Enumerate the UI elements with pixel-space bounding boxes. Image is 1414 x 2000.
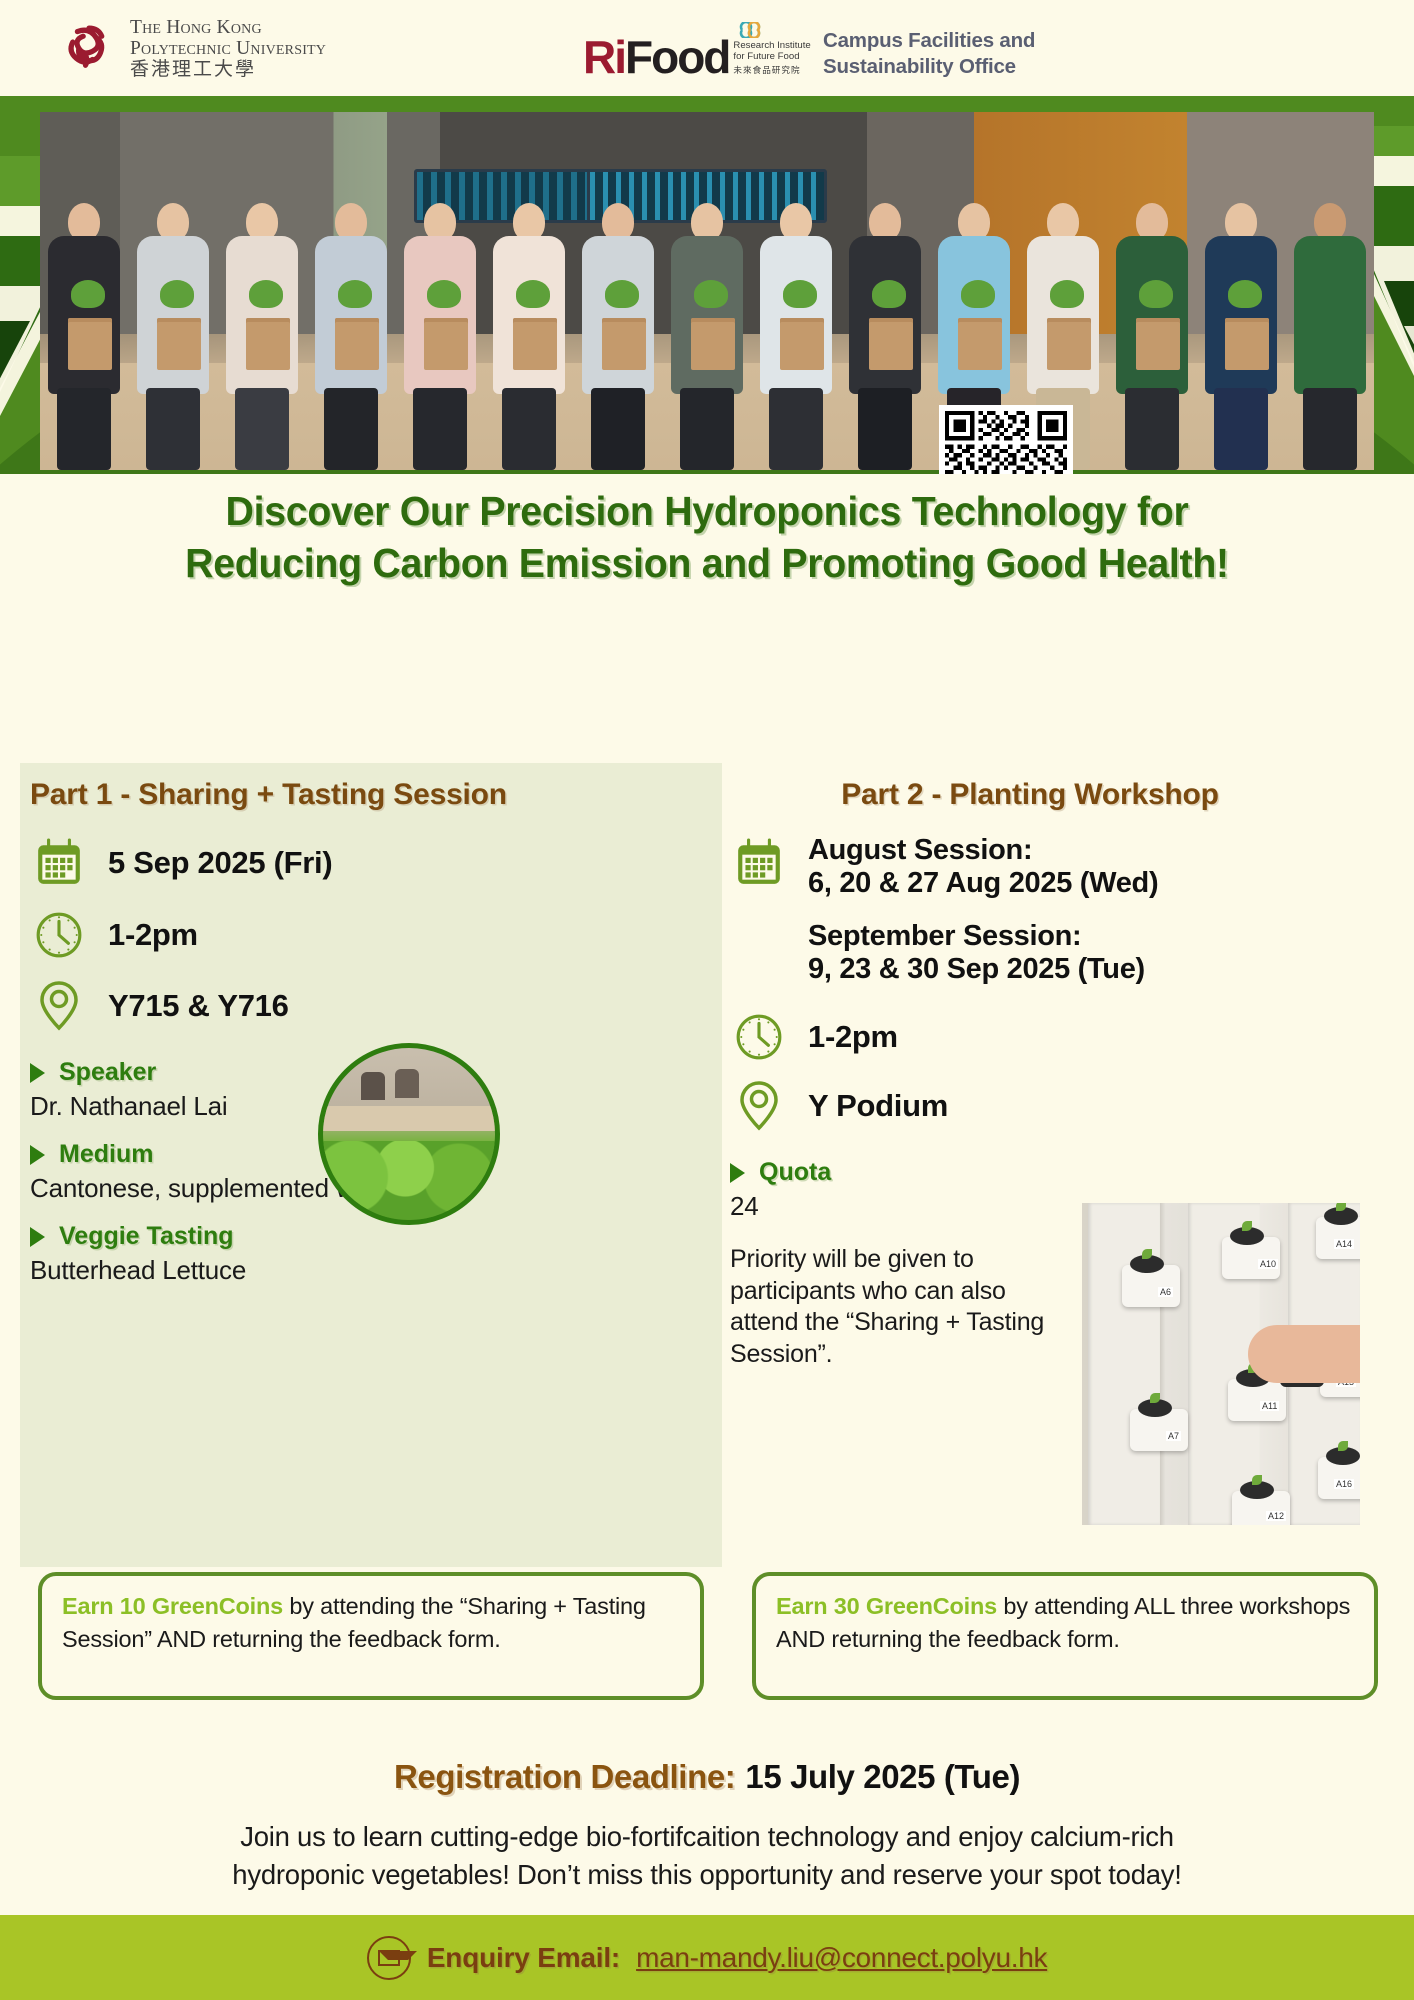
part2-venue-value: Y Podium [808, 1088, 948, 1124]
clock-icon [730, 1012, 788, 1062]
part1-medium-label: Medium [59, 1140, 153, 1169]
enquiry-email-bar: Enquiry Email: man-mandy.liu@connect.pol… [0, 1915, 1414, 2000]
location-pin-icon [734, 1080, 784, 1132]
photo-person [574, 198, 663, 470]
join-us-line2: hydroponic vegetables! Don’t miss this o… [30, 1856, 1384, 1894]
enquiry-email-address[interactable]: man-mandy.liu@connect.polyu.hk [636, 1942, 1047, 1974]
part1-date-row: 5 Sep 2025 (Fri) [30, 838, 710, 888]
enquiry-email-label: Enquiry Email: [427, 1942, 620, 1974]
join-us-text: Join us to learn cutting-edge bio-fortif… [30, 1818, 1384, 1894]
photo-person [752, 198, 841, 470]
part2-quota-label: Quota [759, 1158, 831, 1187]
location-pin-icon [730, 1080, 788, 1132]
pod-label: A12 [1266, 1511, 1286, 1521]
part1-venue-value: Y715 & Y716 [108, 988, 289, 1024]
pod-label: A6 [1158, 1287, 1173, 1297]
photo-person [1285, 198, 1374, 470]
triangle-bullet-icon [30, 1063, 45, 1083]
poster-title-line1: Discover Our Precision Hydroponics Techn… [21, 486, 1393, 538]
pod-label: A10 [1258, 1259, 1278, 1269]
mail-icon [367, 1936, 411, 1980]
part1-greencoin-box: Earn 10 GreenCoins by attending the “Sha… [38, 1572, 704, 1700]
calendar-icon [34, 838, 84, 888]
join-us-line1: Join us to learn cutting-edge bio-fortif… [30, 1818, 1384, 1856]
part2-time-row: 1-2pm [730, 1012, 1370, 1062]
part1-venue-row: Y715 & Y716 [30, 980, 710, 1032]
rifood-subtext: Research Institute for Future Food 未來食品研… [733, 22, 810, 76]
triangle-bullet-icon [730, 1163, 745, 1183]
part2-dates-block: August Session: 6, 20 & 27 Aug 2025 (Wed… [808, 834, 1158, 986]
farm-pod [1318, 1457, 1360, 1499]
calendar-icon [30, 838, 88, 888]
rifood-sub-line2: for Future Food [733, 51, 810, 63]
part1-date-value: 5 Sep 2025 (Fri) [108, 845, 332, 881]
part2-dates-row: August Session: 6, 20 & 27 Aug 2025 (Wed… [730, 834, 1370, 986]
pod-label: A16 [1334, 1479, 1354, 1489]
part2-september-label: September Session: [808, 920, 1158, 953]
clock-icon [30, 910, 88, 960]
photo-person [307, 198, 396, 470]
photo-table [323, 1106, 495, 1130]
calendar-icon [730, 834, 788, 986]
qr-code-icon[interactable] [945, 411, 1067, 474]
farm-pod [1222, 1237, 1280, 1279]
qr-code[interactable] [939, 405, 1073, 474]
part2-quota-block: Quota 24 Priority will be given to parti… [730, 1158, 1060, 1370]
part1-panel-background-low [20, 1337, 722, 1567]
photo-person [218, 198, 307, 470]
part1-time-value: 1-2pm [108, 917, 198, 953]
part2-greencoin-box: Earn 30 GreenCoins by attending ALL thre… [752, 1572, 1378, 1700]
part1-heading: Part 1 - Sharing + Tasting Session [30, 778, 710, 812]
part2-quota-label-row: Quota [730, 1158, 1060, 1187]
poster-header: The Hong Kong Polytechnic University 香港理… [0, 0, 1414, 96]
polyu-name-line1: The Hong Kong [130, 18, 326, 39]
part1-veggie-block: Veggie Tasting Butterhead Lettuce [30, 1222, 710, 1286]
rifood-food-text: Food [625, 36, 729, 78]
farm-pod [1228, 1379, 1286, 1421]
calendar-icon [734, 838, 784, 888]
photo-people-group [40, 198, 1374, 470]
photo-person [663, 198, 752, 470]
rifood-logo: Ri Food Research Institute for Future Fo… [583, 22, 811, 78]
polyu-name-line2: Polytechnic University [130, 39, 326, 60]
rifood-sub-chinese: 未來食品研究院 [733, 64, 810, 76]
location-pin-icon [30, 980, 88, 1032]
part1-time-row: 1-2pm [30, 910, 710, 960]
pod-label: A14 [1334, 1239, 1354, 1249]
rifood-sub-line1: Research Institute [733, 40, 810, 52]
photo-person [396, 198, 485, 470]
photo-person [485, 198, 574, 470]
part2-greencoin-amount: Earn 30 GreenCoins [776, 1593, 997, 1619]
poster-title-line2: Reducing Carbon Emission and Promoting G… [21, 538, 1393, 590]
part2-september-dates: 9, 23 & 30 Sep 2025 (Tue) [808, 953, 1158, 986]
part1-veggie-value: Butterhead Lettuce [30, 1255, 710, 1286]
part2-heading: Part 2 - Planting Workshop [730, 778, 1370, 812]
poster-title: Discover Our Precision Hydroponics Techn… [21, 486, 1393, 590]
rifood-ri-text: Ri [583, 36, 625, 78]
clock-icon [734, 1012, 784, 1062]
photo-person [129, 198, 218, 470]
lettuce-tasting-photo [318, 1043, 500, 1225]
deadline-label: Registration Deadline: [394, 1758, 735, 1795]
registration-deadline: Registration Deadline:15 July 2025 (Tue) [0, 1758, 1414, 1796]
polyu-name-chinese: 香港理工大學 [130, 60, 326, 80]
poster-root: The Hong Kong Polytechnic University 香港理… [0, 0, 1414, 2000]
part2-quota-value: 24 [730, 1191, 1060, 1222]
photo-person [1196, 198, 1285, 470]
photo-person [40, 198, 129, 470]
location-pin-icon [34, 980, 84, 1032]
farm-pod [1130, 1409, 1188, 1451]
infinity-loop-icon [733, 22, 767, 38]
polyu-emblem-icon [60, 20, 118, 78]
vertical-farm-photo: A6 A7 A10 A11 A12 A14 A15 A16 [1082, 1203, 1360, 1525]
part2-time-value: 1-2pm [808, 1019, 898, 1055]
envelope-glyph-icon [378, 1950, 400, 1966]
farm-pod [1122, 1265, 1180, 1307]
part2-priority-note: Priority will be given to participants w… [730, 1244, 1060, 1370]
photo-lettuce [318, 1141, 500, 1225]
group-photo [40, 112, 1374, 470]
photo-person [1107, 198, 1196, 470]
part2-august-dates: 6, 20 & 27 Aug 2025 (Wed) [808, 867, 1158, 900]
pod-label: A11 [1260, 1401, 1279, 1411]
part2-venue-row: Y Podium [730, 1080, 1370, 1132]
clock-icon [34, 910, 84, 960]
photo-person [840, 198, 929, 470]
triangle-bullet-icon [30, 1145, 45, 1165]
photo-chair [361, 1072, 385, 1100]
farm-pod [1316, 1217, 1360, 1259]
polyu-logo: The Hong Kong Polytechnic University 香港理… [60, 18, 326, 80]
person-hand [1248, 1325, 1360, 1383]
triangle-bullet-icon [30, 1227, 45, 1247]
part2-august-label: August Session: [808, 834, 1158, 867]
polyu-wordmark: The Hong Kong Polytechnic University 香港理… [130, 18, 326, 80]
cfso-office-name: Campus Facilities and Sustainability Off… [823, 28, 1035, 79]
hero-banner [0, 96, 1414, 474]
infinity-icon [733, 22, 810, 40]
part1-veggie-label: Veggie Tasting [59, 1222, 234, 1251]
deadline-date: 15 July 2025 (Tue) [745, 1758, 1020, 1795]
pod-label: A7 [1166, 1431, 1181, 1441]
part1-greencoin-amount: Earn 10 GreenCoins [62, 1593, 283, 1619]
part1-speaker-label: Speaker [59, 1058, 156, 1087]
photo-chair [395, 1069, 419, 1098]
part1-veggie-label-row: Veggie Tasting [30, 1222, 710, 1251]
